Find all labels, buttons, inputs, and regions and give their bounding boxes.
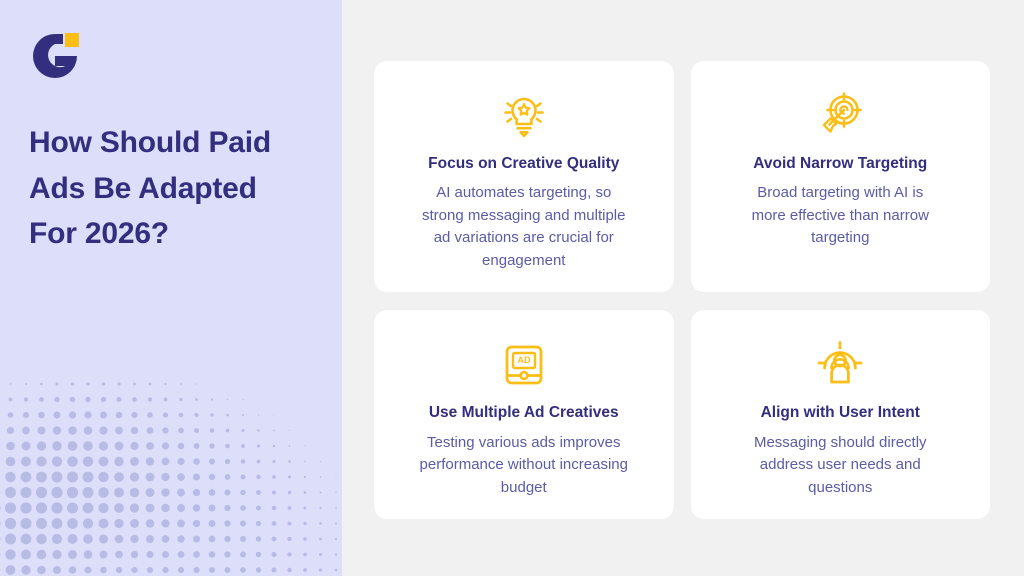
card-title: Align with User Intent [761, 402, 920, 424]
card-title: Use Multiple Ad Creatives [429, 402, 619, 424]
card-avoid-narrow-targeting[interactable]: Avoid Narrow Targeting Broad targeting w… [691, 61, 991, 292]
slide-canvas: How Should Paid Ads Be Adapted For 2026?… [0, 0, 1024, 576]
target-arrow-icon [814, 87, 866, 145]
svg-text:AD: AD [517, 355, 530, 365]
ad-screen-icon: AD [499, 336, 549, 394]
right-panel: Focus on Creative Quality AI automates t… [342, 0, 1024, 576]
card-focus-on-creative-quality[interactable]: Focus on Creative Quality AI automates t… [374, 61, 674, 292]
card-description: Testing various ads improves performance… [419, 432, 629, 500]
card-title: Avoid Narrow Targeting [753, 153, 927, 175]
card-title: Focus on Creative Quality [428, 153, 619, 175]
card-description: Messaging should directly address user n… [743, 432, 938, 500]
halftone-dot-decoration [0, 376, 342, 576]
lightbulb-star-icon [498, 87, 550, 145]
card-description: Broad targeting with AI is more effectiv… [743, 182, 938, 250]
card-grid: Focus on Creative Quality AI automates t… [374, 61, 990, 515]
letter-g-logo-icon [29, 31, 81, 81]
card-align-with-user-intent[interactable]: Align with User Intent Messaging should … [691, 310, 991, 519]
page-title: How Should Paid Ads Be Adapted For 2026? [29, 120, 281, 257]
card-use-multiple-ad-creatives[interactable]: AD Use Multiple Ad Creatives Testing var… [374, 310, 674, 519]
left-panel: How Should Paid Ads Be Adapted For 2026? [0, 0, 342, 576]
card-description: AI automates targeting, so strong messag… [416, 182, 631, 272]
user-crosshair-icon [814, 336, 866, 394]
